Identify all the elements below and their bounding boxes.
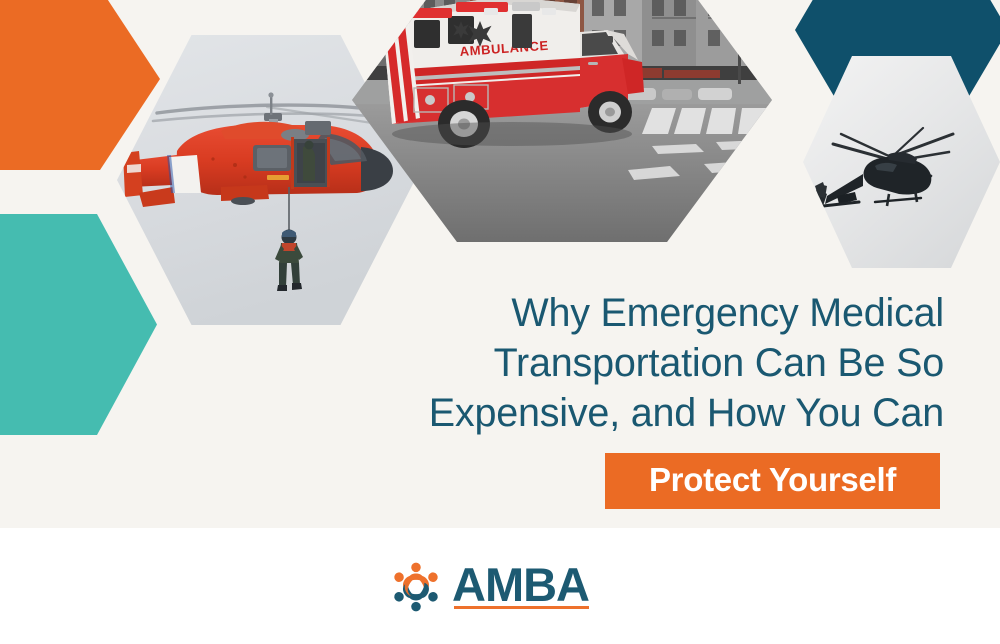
amba-underline [454,606,589,609]
poster: AMBULANCE [0,0,1000,644]
ambulance-hexagon: AMBULANCE [352,0,772,242]
protect-yourself-badge: Protect Yourself [605,453,940,509]
amba-people-circle-icon [388,559,444,615]
amba-logo: AMBA [388,556,613,618]
dark-helicopter-hexagon [803,56,1000,268]
amba-wordmark: AMBA [452,559,589,615]
page-title: Why Emergency Medical Transportation Can… [360,288,944,438]
